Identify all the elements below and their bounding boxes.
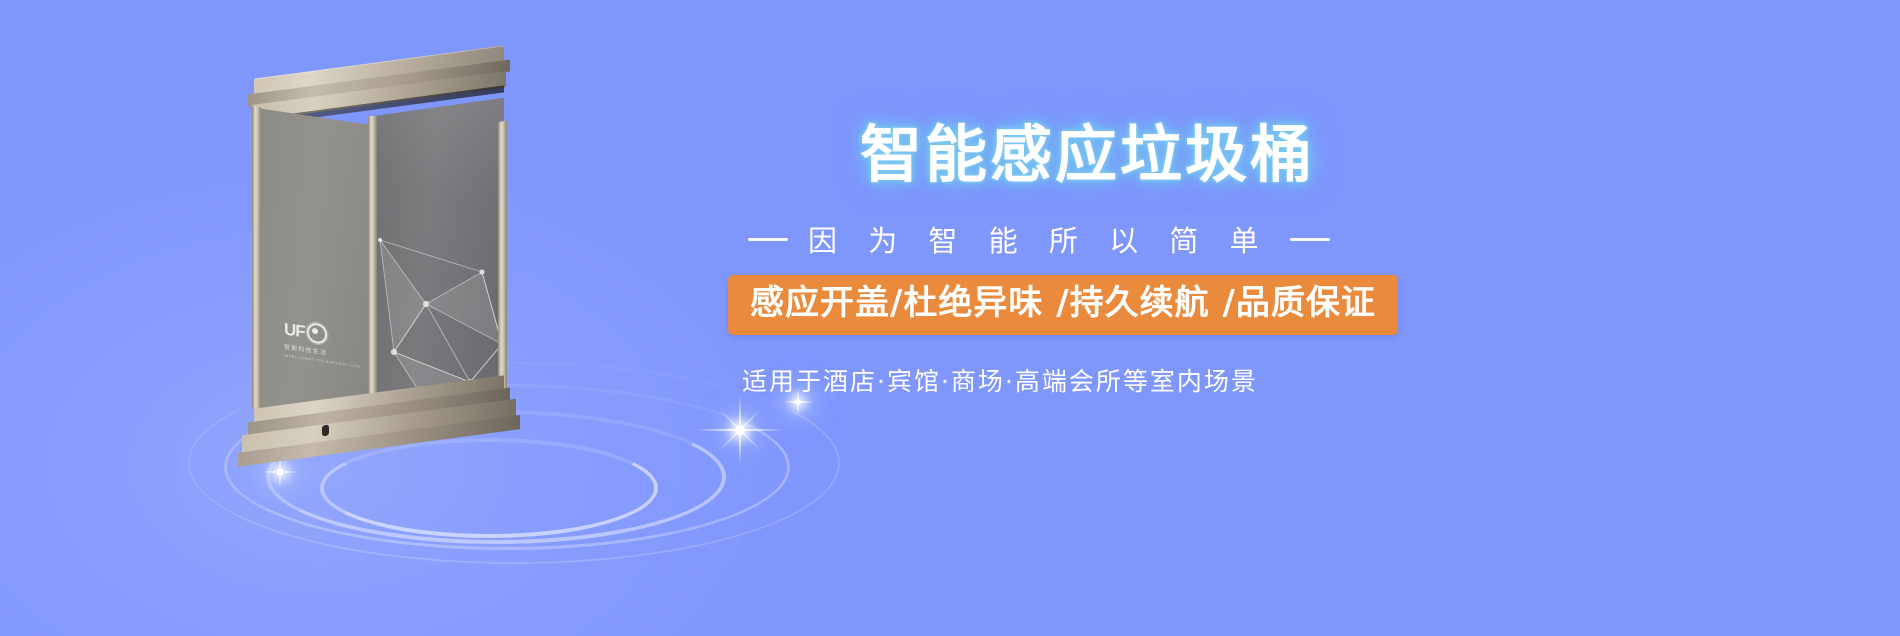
bin-corner-post	[368, 116, 377, 416]
banner-subtitle-text: 因 为 智 能 所 以 简 单	[808, 218, 1270, 260]
base-keyhole-icon	[322, 425, 329, 437]
circle-o-icon	[307, 322, 327, 345]
bin-corner-post	[498, 121, 507, 414]
feature-ribbon-text: 感应开盖/杜绝异味 /持久续航 /品质保证	[750, 286, 1376, 322]
banner-subtitle: 因 为 智 能 所 以 简 单	[748, 218, 1330, 260]
bin-left-panel	[256, 108, 374, 426]
trash-bin-body: UF 智能科技生活 INTELLIGENT TECHNOLOGY LIFE	[250, 62, 512, 422]
bin-corner-post	[252, 106, 261, 409]
product-banner: UF 智能科技生活 INTELLIGENT TECHNOLOGY LIFE 智能…	[0, 0, 1900, 636]
product-illustration: UF 智能科技生活 INTELLIGENT TECHNOLOGY LIFE	[150, 30, 770, 560]
feature-ribbon: 感应开盖/杜绝异味 /持久续航 /品质保证	[728, 275, 1398, 335]
banner-text-block: 智能感应垃圾桶 因 为 智 能 所 以 简 单 感应开盖/杜绝异味 /持久续航 …	[700, 0, 1900, 636]
dash-left-icon	[748, 238, 788, 241]
dash-right-icon	[1290, 238, 1330, 241]
bin-base	[240, 392, 530, 484]
banner-footnote: 适用于酒店·宾馆·商场·高端会所等室内场景	[742, 362, 1258, 398]
logo-wordmark: UF	[284, 320, 305, 340]
banner-title: 智能感应垃圾桶	[860, 124, 1315, 186]
